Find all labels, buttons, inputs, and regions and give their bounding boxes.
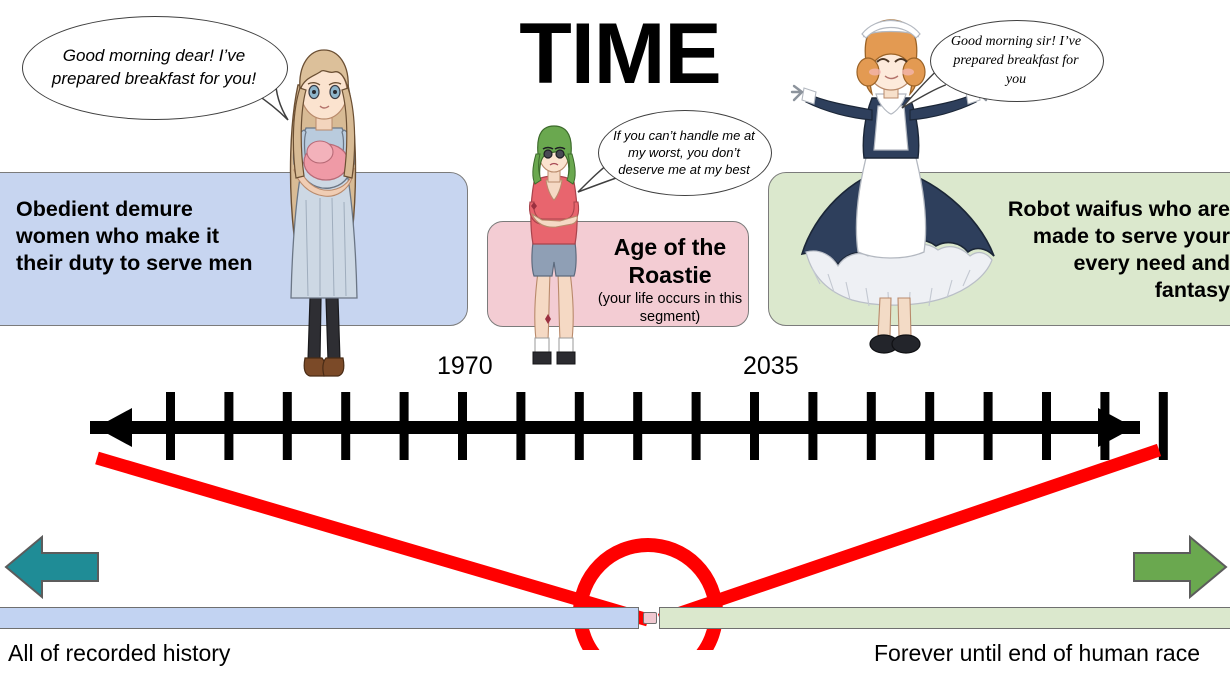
page-title: TIME [490,8,750,100]
speech-bubble-text: Good morning dear! I’ve prepared breakfa… [43,16,265,118]
bar-segment-future[interactable] [659,607,1230,629]
timeline-year-end: 2035 [743,352,799,381]
era-present-title: Age of the Roastie [590,233,750,289]
speech-bubble-roastie: If you can’t handle me at my worst, you … [598,110,770,194]
speech-bubble-housewife: Good morning dear! I’ve prepared breakfa… [22,16,286,118]
timeline-year-start: 1970 [437,352,493,381]
speech-bubble-robot-maid: Good morning sir! I’ve prepared breakfas… [930,20,1102,100]
bar-thumb-present[interactable] [643,612,657,624]
speech-bubble-text: If you can’t handle me at my worst, you … [612,110,756,194]
timeline-meme-canvas: TIME [0,0,1230,690]
era-past-label: Obedient demure women who make it their … [16,196,266,277]
right-arrow-icon [1132,533,1228,601]
left-arrow-icon [4,533,100,601]
bar-segment-past[interactable] [0,607,639,629]
caption-past: All of recorded history [8,640,230,667]
era-present-subtitle: (your life occurs in this segment) [582,290,758,326]
history-progress-bar[interactable] [0,607,1230,629]
era-future-label: Robot waifus who are made to serve your … [1002,196,1230,304]
speech-bubble-text: Good morning sir! I’ve prepared breakfas… [944,20,1088,100]
caption-future: Forever until end of human race [874,640,1200,667]
